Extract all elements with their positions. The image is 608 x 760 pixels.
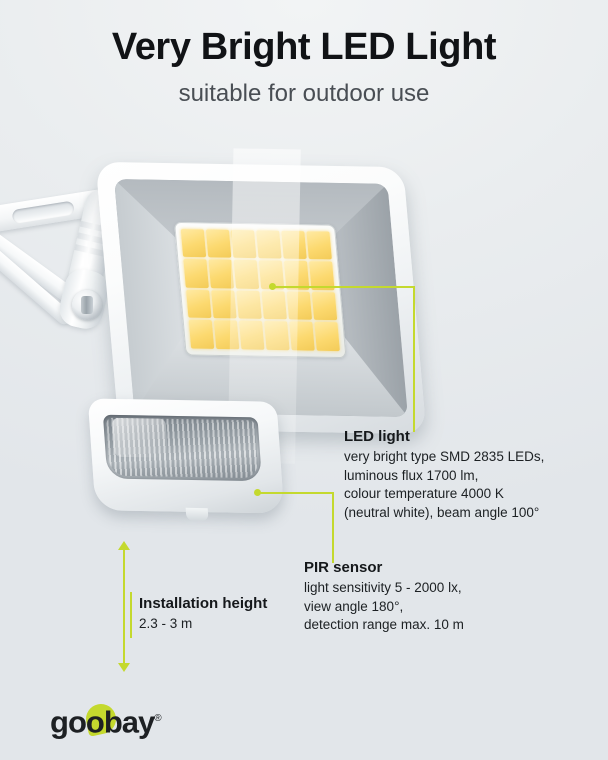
callout-installation-height: Installation height 2.3 - 3 m (139, 595, 309, 634)
led-chip (281, 231, 306, 260)
callout-led-line-2: luminous flux 1700 lm, (344, 468, 478, 483)
callout-install-heading: Installation height (139, 595, 309, 612)
pir-leader-vertical (332, 492, 334, 563)
led-panel (174, 222, 346, 358)
led-chip (209, 260, 234, 289)
led-chip (206, 229, 231, 258)
bracket-mounting-slot (11, 201, 74, 225)
floodlight-housing (96, 162, 427, 434)
led-chip (234, 260, 259, 289)
install-arrow-head-bottom (118, 663, 130, 672)
callout-pir-body: light sensitivity 5 - 2000 lx, view angl… (304, 579, 564, 635)
led-chip (181, 229, 206, 258)
infographic-page: Very Bright LED Light suitable for outdo… (0, 0, 608, 760)
install-callout-bar (130, 592, 132, 638)
goobay-logo: goobay® (50, 702, 161, 736)
pir-sensor-module (88, 398, 285, 513)
callout-pir-sensor: PIR sensor light sensitivity 5 - 2000 lx… (304, 559, 564, 635)
led-chip (189, 320, 214, 349)
callout-led-line-3: colour temperature 4000 K (344, 486, 504, 501)
led-chip (256, 230, 281, 259)
callout-pir-heading: PIR sensor (304, 559, 564, 576)
led-chip (239, 321, 264, 350)
led-chip (261, 291, 286, 320)
logo-text-middle: oo (68, 704, 104, 739)
led-chip (214, 321, 239, 350)
led-chip (236, 291, 261, 320)
led-leader-vertical (413, 286, 415, 432)
pir-leader-horizontal (257, 492, 334, 494)
callout-led-line-1: very bright type SMD 2835 LEDs, (344, 449, 544, 464)
callout-install-body: 2.3 - 3 m (139, 615, 309, 634)
logo-wordmark: goobay® (50, 702, 161, 739)
led-chip (186, 290, 211, 319)
led-chip (306, 231, 331, 260)
callout-pir-line-3: detection range max. 10 m (304, 617, 464, 632)
callout-led-line-4: (neutral white), beam angle 100° (344, 505, 539, 520)
led-chip (286, 291, 311, 320)
logo-text-before: g (50, 704, 68, 739)
callout-pir-line-1: light sensitivity 5 - 2000 lx, (304, 580, 462, 595)
callout-pir-line-2: view angle 180°, (304, 599, 403, 614)
logo-registered-mark: ® (154, 713, 160, 724)
pir-bottom-nub (186, 508, 209, 521)
pivot-screw-icon (72, 290, 102, 320)
pir-fresnel-lens (103, 415, 262, 482)
install-arrow-line (123, 549, 125, 663)
callout-led-light: LED light very bright type SMD 2835 LEDs… (344, 428, 596, 522)
logo-text-after: bay (104, 704, 154, 739)
led-chip (231, 230, 256, 259)
led-chip (289, 322, 314, 351)
led-chip (264, 321, 289, 350)
callout-led-heading: LED light (344, 428, 596, 445)
led-leader-horizontal (272, 286, 414, 288)
led-chip (184, 259, 209, 288)
led-chip (311, 292, 336, 321)
callout-led-body: very bright type SMD 2835 LEDs, luminous… (344, 448, 596, 522)
page-subtitle: suitable for outdoor use (0, 80, 608, 108)
page-title: Very Bright LED Light (0, 26, 608, 69)
led-chip (314, 322, 339, 351)
led-chip (211, 290, 236, 319)
